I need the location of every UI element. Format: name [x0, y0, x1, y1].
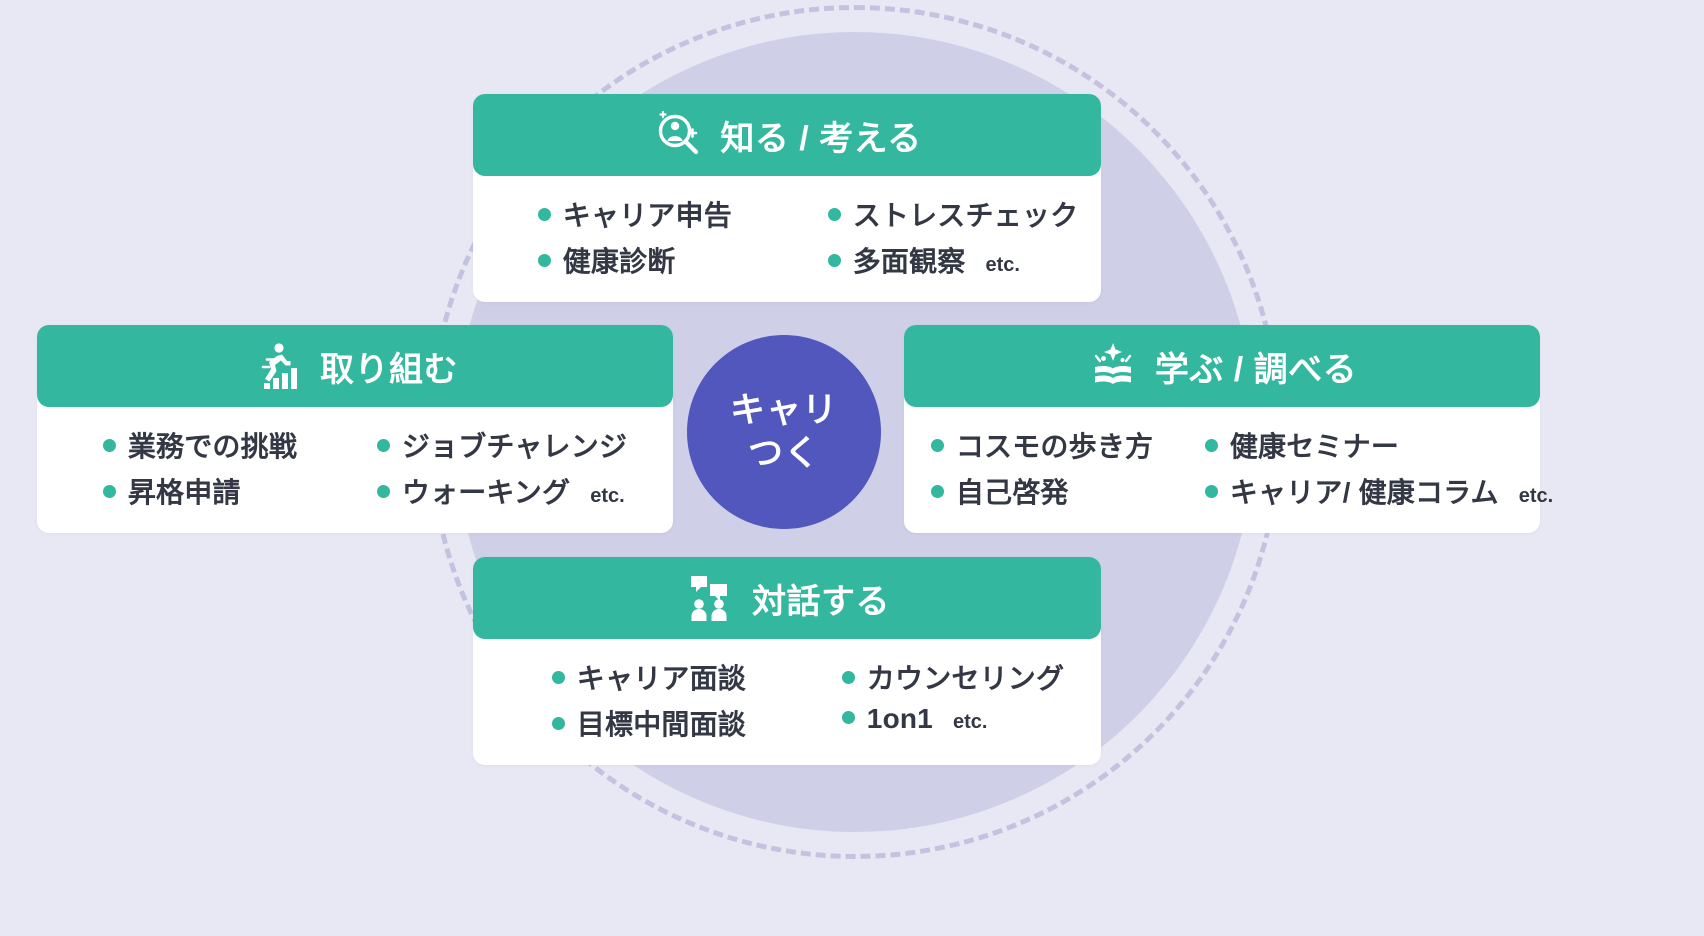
bullet-dot-icon	[103, 485, 116, 498]
list-item[interactable]: ジョブチャレンジ	[377, 425, 647, 465]
card-header-take-action: 取り組む	[37, 325, 673, 407]
card-take-action[interactable]: 取り組む 業務での挑戦 ジョブチャレンジ 昇格申請 ウォーキング etc.	[37, 325, 673, 533]
bullet-dot-icon	[931, 439, 944, 452]
bullet-dot-icon	[1205, 439, 1218, 452]
card-body-learn-research: コスモの歩き方 健康セミナー 自己啓発 キャリア/ 健康コラム etc.	[904, 407, 1540, 533]
center-hub-career-tsuku[interactable]: キャリ つく	[687, 335, 881, 529]
list-item[interactable]: キャリア面談	[552, 657, 802, 697]
list-item[interactable]: 健康セミナー	[1205, 425, 1553, 465]
card-learn-research[interactable]: 学ぶ / 調べる コスモの歩き方 健康セミナー 自己啓発 キャリア/ 健康コラム	[904, 325, 1540, 533]
list-item-label: 業務での挑戦	[128, 425, 297, 465]
hub-line-2: つく	[748, 432, 820, 475]
list-item-etc: etc.	[1519, 485, 1553, 508]
list-item[interactable]: ウォーキング etc.	[377, 471, 647, 511]
card-know-think[interactable]: 知る / 考える キャリア申告 ストレスチェック 健康診断 多面観察 etc	[473, 94, 1101, 302]
list-item-label: ジョブチャレンジ	[402, 425, 627, 465]
card-header-learn-research: 学ぶ / 調べる	[904, 325, 1540, 407]
list-item-label: キャリア/ 健康コラム	[1230, 471, 1499, 511]
list-item-label: カウンセリング	[867, 657, 1064, 697]
card-title-learn-research: 学ぶ / 調べる	[1155, 342, 1357, 391]
list-item[interactable]: 目標中間面談	[552, 703, 802, 743]
bullet-dot-icon	[103, 439, 116, 452]
open-book-sparkle-icon	[1087, 340, 1139, 392]
bullet-dot-icon	[538, 208, 551, 221]
bullet-dot-icon	[828, 254, 841, 267]
card-body-dialogue: キャリア面談 カウンセリング 目標中間面談 1on1 etc.	[473, 639, 1101, 765]
magnifier-person-plus-icon	[652, 109, 704, 161]
list-item-label: 健康診断	[563, 240, 676, 280]
bullet-dot-icon	[931, 485, 944, 498]
list-item-etc: etc.	[953, 711, 987, 734]
list-item-label: 昇格申請	[128, 471, 241, 511]
list-item-etc: etc.	[986, 254, 1020, 277]
bullet-dot-icon	[842, 711, 855, 724]
list-item-label: 1on1	[867, 703, 933, 735]
list-item-label: ウォーキング	[402, 471, 570, 511]
list-item[interactable]: 昇格申請	[103, 471, 353, 511]
list-item-label: ストレスチェック	[853, 194, 1079, 234]
bullet-dot-icon	[552, 717, 565, 730]
running-person-chart-icon	[252, 340, 304, 392]
list-item-label: キャリア申告	[563, 194, 732, 234]
list-item[interactable]: キャリア申告	[538, 194, 788, 234]
diagram-canvas: 知る / 考える キャリア申告 ストレスチェック 健康診断 多面観察 etc	[0, 0, 1704, 936]
bullet-dot-icon	[842, 671, 855, 684]
card-title-take-action: 取り組む	[320, 342, 458, 391]
hub-line-1: キャリ	[730, 389, 838, 432]
card-header-know-think: 知る / 考える	[473, 94, 1101, 176]
bullet-dot-icon	[1205, 485, 1218, 498]
bullet-dot-icon	[538, 254, 551, 267]
list-item[interactable]: キャリア/ 健康コラム etc.	[1205, 471, 1553, 511]
list-item-label: コスモの歩き方	[956, 425, 1153, 465]
list-item[interactable]: 業務での挑戦	[103, 425, 353, 465]
list-item[interactable]: コスモの歩き方	[931, 425, 1181, 465]
list-item[interactable]: 自己啓発	[931, 471, 1181, 511]
card-body-take-action: 業務での挑戦 ジョブチャレンジ 昇格申請 ウォーキング etc.	[37, 407, 673, 533]
list-item[interactable]: 健康診断	[538, 240, 788, 280]
card-title-know-think: 知る / 考える	[720, 111, 921, 160]
card-header-dialogue: 対話する	[473, 557, 1101, 639]
bullet-dot-icon	[552, 671, 565, 684]
list-item-label: キャリア面談	[577, 657, 746, 697]
list-item-etc: etc.	[590, 485, 624, 508]
bullet-dot-icon	[377, 439, 390, 452]
list-item-label: 目標中間面談	[577, 703, 746, 743]
card-body-know-think: キャリア申告 ストレスチェック 健康診断 多面観察 etc.	[473, 176, 1101, 302]
list-item[interactable]: 多面観察 etc.	[828, 240, 1099, 280]
list-item-label: 多面観察	[853, 240, 966, 280]
bullet-dot-icon	[377, 485, 390, 498]
bullet-dot-icon	[828, 208, 841, 221]
list-item[interactable]: ストレスチェック	[828, 194, 1099, 234]
list-item-label: 健康セミナー	[1230, 425, 1399, 465]
two-people-speech-bubbles-icon	[684, 572, 736, 624]
list-item[interactable]: カウンセリング	[842, 657, 1084, 697]
card-dialogue[interactable]: 対話する キャリア面談 カウンセリング 目標中間面談 1on1 etc.	[473, 557, 1101, 765]
list-item[interactable]: 1on1 etc.	[842, 703, 1084, 743]
list-item-label: 自己啓発	[956, 471, 1069, 511]
card-title-dialogue: 対話する	[752, 574, 890, 623]
